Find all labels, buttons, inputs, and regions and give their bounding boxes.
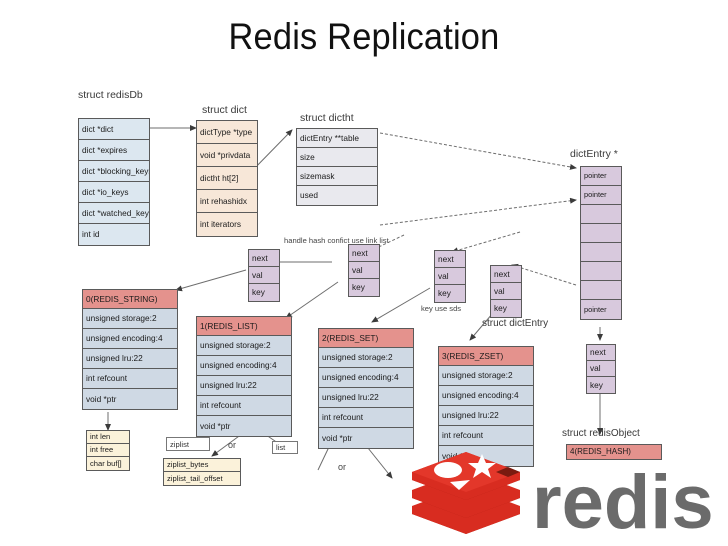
note-key-sds: key use sds [421,304,461,313]
tag-list: list [272,441,298,454]
object-header: 1(REDIS_LIST) [197,317,291,336]
entry-node-field: val [249,267,279,284]
struct-dictht: dictEntry **table size sizemask used [296,128,378,206]
redis-wordmark: redis [532,460,714,544]
object-field: unsigned lru:22 [439,406,533,426]
entry-node-field: val [349,262,379,279]
entry-node: next val key [490,265,522,318]
redis-logo: redis [404,436,728,544]
object-header: 2(REDIS_SET) [319,329,413,348]
redisdb-field: dict *blocking_keys [79,161,149,182]
entry-node-field: next [249,250,279,267]
struct-redisdb: dict *dict dict *expires dict *blocking_… [78,118,150,246]
object-field: void *ptr [197,416,291,436]
redisdb-field: dict *dict [79,119,149,140]
entry-node-field: next [435,251,465,268]
dictht-field: size [297,148,377,167]
dictentry-cell [581,224,621,243]
dict-field: dictType *type [197,121,257,144]
caption-struct-dictentry: struct dictEntry [482,318,548,329]
ziplist-struct: ziplist_bytes ziplist_tail_offset [163,458,241,486]
object-field: void *ptr [83,389,177,409]
caption-struct-redisdb: struct redisDb [78,89,143,101]
dictentry-cell [581,243,621,262]
note-or-right: or [338,462,346,472]
object-field: unsigned storage:2 [83,309,177,329]
object-field: unsigned storage:2 [319,348,413,368]
object-field: int refcount [83,369,177,389]
sds-field: int len [87,431,129,444]
dictentry-cell [581,281,621,300]
dict-field: int iterators [197,213,257,236]
ziplist-field: ziplist_tail_offset [164,472,240,485]
dict-field: int rehashidx [197,190,257,213]
caption-dictentry-pointer: dictEntry * [570,148,618,160]
dictentry-cell: pointer [581,186,621,205]
dictht-field: sizemask [297,167,377,186]
object-header: 0(REDIS_STRING) [83,290,177,309]
redisdb-field: dict *io_keys [79,182,149,203]
entry-node-field: key [491,300,521,317]
entry-node: next val key [586,344,616,394]
entry-node-field: next [349,245,379,262]
dictentry-cell [581,262,621,281]
sds-struct: int len int free char buf[] [86,430,130,471]
dict-field: void *privdata [197,144,257,167]
object-field: unsigned lru:22 [83,349,177,369]
dictentry-cell [581,205,621,224]
redisdb-field: int id [79,224,149,245]
note-or-left: or [228,440,236,450]
dictht-field: dictEntry **table [297,129,377,148]
ziplist-field: ziplist_bytes [164,459,240,472]
dict-field: dictht ht[2] [197,167,257,190]
object-field: int refcount [197,396,291,416]
object-field: unsigned encoding:4 [319,368,413,388]
entry-node-field: val [587,361,615,377]
caption-struct-dict: struct dict [202,104,247,116]
entry-node: next val key [348,244,380,297]
object-field: unsigned encoding:4 [83,329,177,349]
entry-node-field: val [435,268,465,285]
entry-node: next val key [434,250,466,303]
object-field: void *ptr [319,428,413,448]
dictentry-cell: pointer [581,167,621,186]
page-title: Redis Replication [25,16,702,58]
object-field: int refcount [319,408,413,428]
sds-field: int free [87,444,129,457]
object-field: unsigned encoding:4 [197,356,291,376]
entry-node-field: key [349,279,379,296]
object-field: unsigned lru:22 [319,388,413,408]
redis-object-set: 2(REDIS_SET) unsigned storage:2 unsigned… [318,328,414,449]
dictentry-cell: pointer [581,300,621,319]
entry-node-field: key [587,377,615,393]
dictht-field: used [297,186,377,205]
entry-node-field: next [491,266,521,283]
dictentry-table: pointer pointer pointer [580,166,622,320]
object-field: unsigned lru:22 [197,376,291,396]
object-field: unsigned storage:2 [439,366,533,386]
redis-object-list: 1(REDIS_LIST) unsigned storage:2 unsigne… [196,316,292,437]
entry-node-field: key [435,285,465,302]
object-field: unsigned encoding:4 [439,386,533,406]
entry-node-field: val [491,283,521,300]
object-header: 3(REDIS_ZSET) [439,347,533,366]
sds-field: char buf[] [87,457,129,470]
entry-node: next val key [248,249,280,302]
slide-canvas: Redis Replication [0,0,728,546]
entry-node-field: next [587,345,615,361]
tag-ziplist: ziplist [166,437,210,451]
redis-object-string: 0(REDIS_STRING) unsigned storage:2 unsig… [82,289,178,410]
redisdb-field: dict *watched_keys [79,203,149,224]
object-field: unsigned storage:2 [197,336,291,356]
struct-dict: dictType *type void *privdata dictht ht[… [196,120,258,237]
caption-struct-dictht: struct dictht [300,112,354,124]
entry-node-field: key [249,284,279,301]
redisdb-field: dict *expires [79,140,149,161]
